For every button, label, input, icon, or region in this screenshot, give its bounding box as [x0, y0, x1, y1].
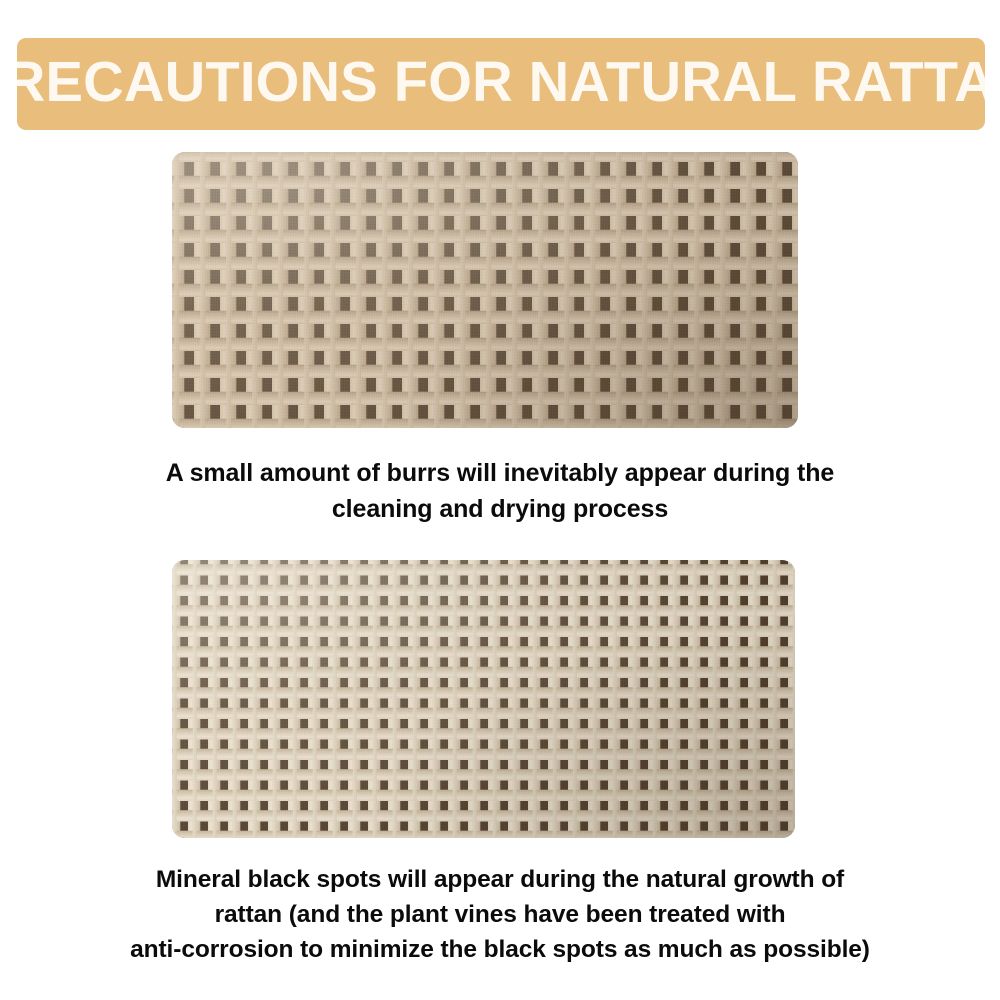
caption-burrs-line-1: A small amount of burrs will inevitably …: [0, 455, 1000, 491]
caption-black-spots-line-2: rattan (and the plant vines have been tr…: [0, 897, 1000, 932]
page-title: PRECAUTIONS FOR NATURAL RATTAN: [17, 54, 985, 114]
rattan-photo-fine: [172, 560, 795, 838]
caption-black-spots-line-1: Mineral black spots will appear during t…: [0, 862, 1000, 897]
weave-base: [172, 560, 795, 838]
weave-lighting-overlay: [172, 560, 795, 838]
caption-burrs-line-2: cleaning and drying process: [0, 491, 1000, 527]
caption-burrs: A small amount of burrs will inevitably …: [0, 455, 1000, 527]
title-banner: PRECAUTIONS FOR NATURAL RATTAN: [17, 38, 985, 130]
caption-black-spots: Mineral black spots will appear during t…: [0, 862, 1000, 967]
weave-lighting-overlay: [172, 152, 798, 428]
infographic-page: PRECAUTIONS FOR NATURAL RATTAN A small a…: [0, 0, 1000, 1000]
rattan-photo-coarse: [172, 152, 798, 428]
weave-base: [172, 152, 798, 428]
caption-black-spots-line-3: anti-corrosion to minimize the black spo…: [0, 932, 1000, 967]
